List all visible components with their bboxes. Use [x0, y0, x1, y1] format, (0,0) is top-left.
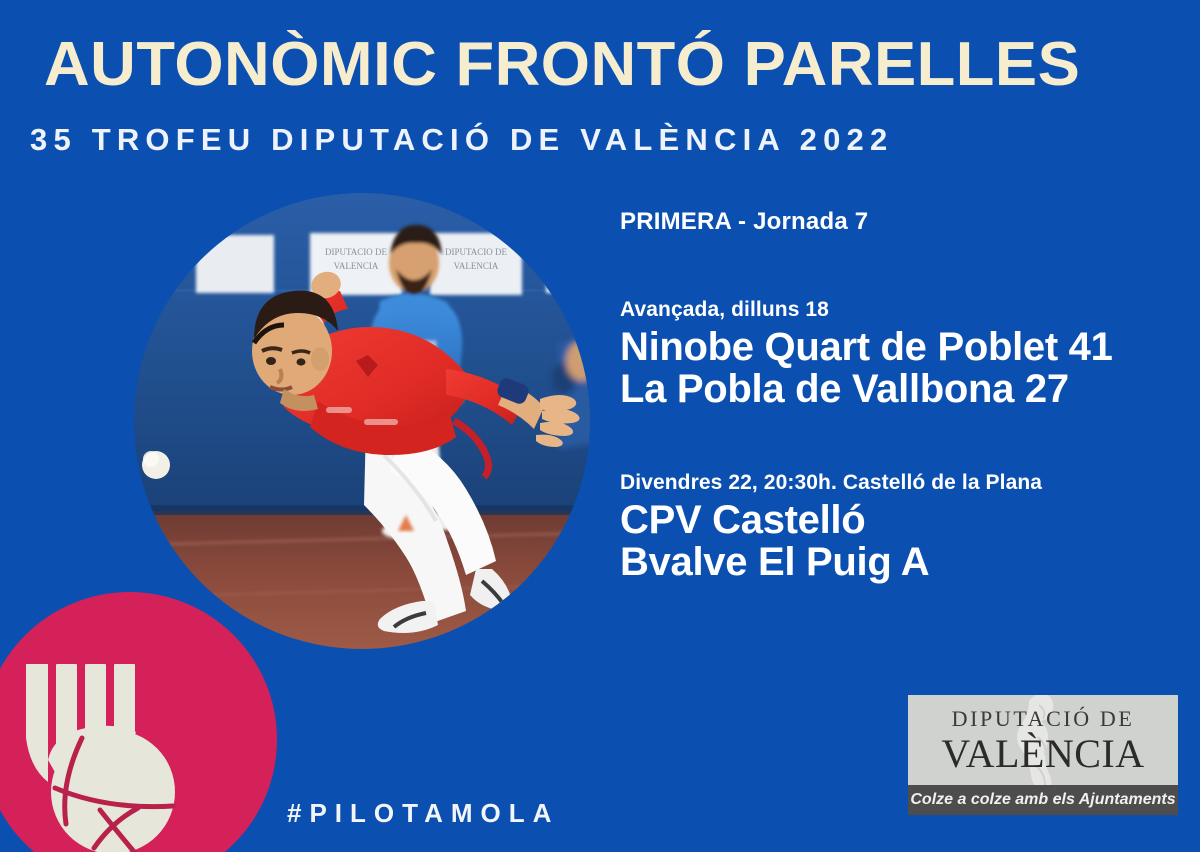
sponsor-logo-tagline: Colze a colze amb els Ajuntaments [908, 785, 1178, 815]
svg-text:VALENCIA: VALENCIA [454, 261, 499, 271]
match-info-panel: PRIMERA - Jornada 7 Avançada, dilluns 18… [620, 208, 1190, 584]
page-subtitle: 35 TROFEU DIPUTACIÓ DE VALÈNCIA 2022 [30, 122, 893, 158]
sponsor-logo-line2: VALÈNCIA [908, 734, 1178, 774]
round-label: PRIMERA - Jornada 7 [620, 208, 1190, 236]
player-photo: DIPUTACIO DE VALENCIA DIPUTACIO DE VALEN… [134, 193, 590, 649]
match-card-2: Divendres 22, 20:30h. Castelló de la Pla… [620, 471, 1190, 584]
sponsor-logo-diputacio-valencia: DIPUTACIÓ DE VALÈNCIA Colze a colze amb … [908, 695, 1178, 815]
svg-text:DIPUTACIO DE: DIPUTACIO DE [325, 247, 388, 257]
hashtag: #PILOTAMOLA [287, 798, 559, 829]
player-photo-illustration: DIPUTACIO DE VALENCIA DIPUTACIO DE VALEN… [134, 193, 590, 649]
match-1-team-away: La Pobla de Vallbona 27 [620, 368, 1190, 410]
svg-text:DIPUTACIO DE: DIPUTACIO DE [445, 247, 508, 257]
match-1-meta: Avançada, dilluns 18 [620, 298, 1190, 322]
pilota-hand-ball-icon [20, 642, 200, 852]
sponsor-logo-top: DIPUTACIÓ DE VALÈNCIA [908, 695, 1178, 785]
sponsor-logo-line1: DIPUTACIÓ DE [908, 695, 1178, 730]
pilota-hand-ball-icon-glyph [20, 642, 200, 852]
match-2-team-away: Bvalve El Puig A [620, 541, 1190, 583]
match-card-1: Avançada, dilluns 18 Ninobe Quart de Pob… [620, 298, 1190, 411]
match-2-meta: Divendres 22, 20:30h. Castelló de la Pla… [620, 471, 1190, 495]
page-title: AUTONÒMIC FRONTÓ PARELLES [44, 34, 1080, 96]
match-1-team-home: Ninobe Quart de Poblet 41 [620, 326, 1190, 368]
svg-text:VALENCIA: VALENCIA [334, 261, 379, 271]
brand-logo-disc [0, 592, 277, 852]
poster-root: AUTONÒMIC FRONTÓ PARELLES 35 TROFEU DIPU… [0, 0, 1200, 852]
match-2-team-home: CPV Castelló [620, 499, 1190, 541]
